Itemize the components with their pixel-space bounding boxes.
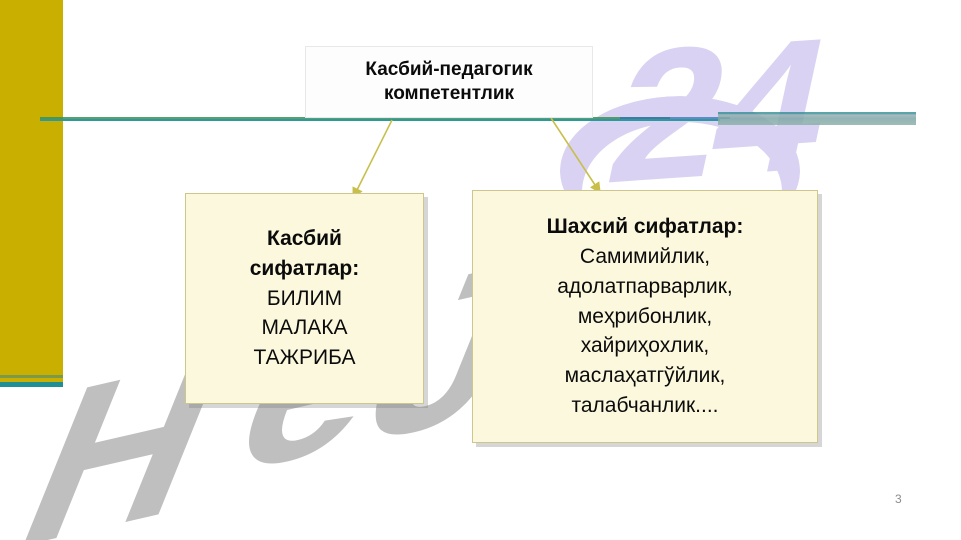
arrow-title-to-left-box [354, 120, 392, 196]
left-box-item-2: ТАЖРИБА [254, 343, 356, 373]
rule-blue [620, 117, 730, 119]
right-box-item-2: меҳрибонлик, [578, 302, 712, 332]
right-box-item-3: хайриҳохлик, [581, 331, 710, 361]
rule-teal [40, 119, 720, 121]
page-title: Касбий-педагогик компетентлик [365, 58, 532, 107]
rule-bar-right [718, 114, 916, 125]
olive-side-block [0, 0, 63, 375]
right-box-item-0: Самимийлик, [580, 242, 710, 272]
right-box-item-1: адолатпарварлик, [557, 272, 733, 302]
title-box: Касбий-педагогик компетентлик [305, 46, 593, 118]
personal-qualities-box: Шахсий сифатлар: Самимийлик, адолатпарва… [472, 190, 818, 443]
left-box-item-0: БИЛИМ [267, 284, 342, 314]
left-box-item-1: МАЛАКА [262, 313, 348, 343]
left-box-heading: Касбий сифатлар: [250, 224, 360, 284]
teal-foot-bar [0, 382, 63, 387]
right-box-item-4: маслаҳатгўйлик, [565, 361, 726, 391]
slide-canvas: 24 H eJa Касбий-педагогик компетентлик К… [0, 0, 961, 540]
right-box-heading: Шахсий сифатлар: [547, 212, 744, 242]
page-number: 3 [895, 492, 902, 506]
right-box-item-5: талабчанлик.... [571, 391, 718, 421]
professional-qualities-box: Касбий сифатлар: БИЛИМ МАЛАКА ТАЖРИБА [185, 193, 424, 404]
